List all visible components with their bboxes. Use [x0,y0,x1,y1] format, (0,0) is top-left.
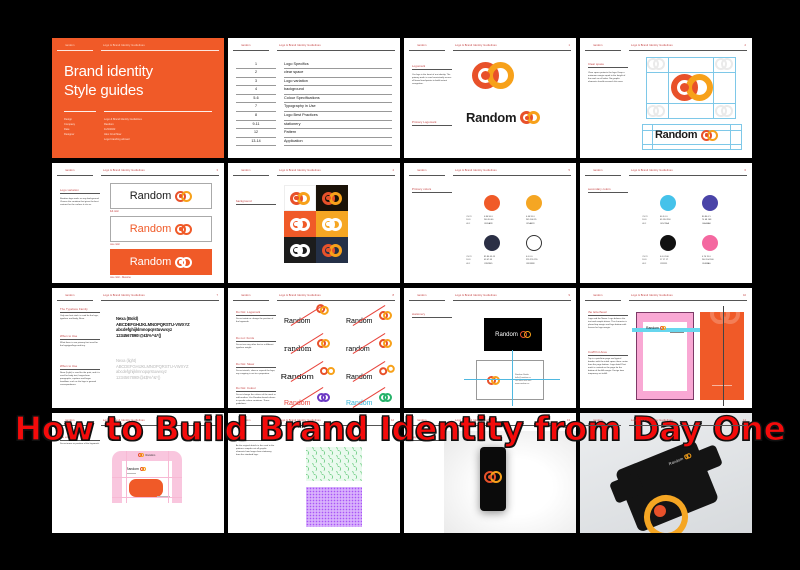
page-number: 5 [569,169,570,172]
slide-cover[interactable]: random Logo & Brand Identity Guidelines … [52,38,224,158]
section-label: background [236,199,252,203]
header-title: Logo & Brand Identity Guidelines [279,169,321,172]
logo-mark [472,62,514,89]
variant-one-color: Random [110,216,212,242]
variant-label: one color - Reverse [110,276,131,279]
phone-mockup [480,447,506,511]
slide-logo-variation[interactable]: random Logo & Brand Identity Guidelines … [52,163,224,283]
color-swatch [484,235,500,251]
ghost-mark [647,105,665,117]
page-number: 7 [217,294,218,297]
section-body: Our logo is the heart of our identity. T… [412,74,452,86]
slide-envelope[interactable]: random Logo & Brand Identity Guidelines … [52,413,224,533]
header-brand: random [65,294,75,297]
variant-reverse: Random [110,249,212,275]
rule-body: Do not change the colours of the mark or… [236,394,276,406]
header-title: Logo & Brand Identity Guidelines [103,419,145,422]
section-body-2: What there is one primary font used for … [60,342,100,348]
swatch-values: 60 5 0 069 194 234#45C2EA [660,216,670,226]
bg-cell [316,237,348,263]
header-brand: random [241,44,251,47]
dont-example: Random [284,392,334,408]
wordmark-mark [175,257,192,268]
section-label-2: Primary Logomark [412,120,436,124]
section-label: the envelope [60,435,77,439]
slide-pattern[interactable]: random Logo & Brand Identity Guidelines … [228,413,400,533]
logo-wordmark: Random [466,110,540,125]
slide-background[interactable]: random Logo & Brand Identity Guidelines … [228,163,400,283]
page-number: 6 [745,169,746,172]
slide-grid: random Logo & Brand Identity Guidelines … [52,38,752,533]
dont-example: random [346,338,396,356]
section-label: Logo variation [60,188,79,192]
color-swatch [526,235,542,251]
toc-row[interactable]: 13-14Application [236,137,392,146]
screenshot-canvas: random Logo & Brand Identity Guidelines … [0,0,800,570]
section-body: Do not move or position of the logomark. [60,443,100,446]
wordmark-mark [175,191,192,202]
section-label: stationery [412,312,425,316]
envelope-mockup: Random Random [112,451,182,503]
clear-space-diagram [646,57,736,119]
swatch-label-keys: CMYKRGBHEX [466,256,472,266]
dont-example: random [284,338,334,356]
section-label-3: When to Use [60,364,77,368]
section-label: pattern [236,435,245,439]
wordmark-mark [701,130,718,141]
wordmark-mark [520,111,540,124]
section-label: Clear space [588,62,604,66]
ghost-mark [715,58,733,70]
section-label: Primary colors [412,187,431,191]
rule-label: Do Not: Colour [236,386,256,390]
rule-body: Do not use any other font or a different… [236,344,276,350]
page-number: 10 [743,294,746,297]
color-swatch [660,235,676,251]
letterhead-page-alt [700,312,744,400]
swatch-label-keys: CMYKRGBHEX [642,256,648,266]
color-swatch [660,195,676,211]
header-title: Logo & Brand Identity Guidelines [631,169,673,172]
color-swatch [702,235,718,251]
page-number: 9 [569,294,570,297]
slide-logo-best-practices[interactable]: random Logo & Brand Identity Guidelines … [228,288,400,408]
swatch-label-keys: CMYKRGBHEX [642,216,648,226]
slide-typography[interactable]: random Logo & Brand Identity Guidelines … [52,288,224,408]
envelope-logo: Random [126,467,146,471]
section-body: Logo and the Name. Logo balance the text… [588,318,628,330]
variant-label: one color [110,243,120,246]
swatch-values: 0 80 90 0240 90 40#F05A28 [484,216,493,226]
swatch-values: 0 0 0 0255 255 255#FFFFFF [526,256,538,266]
envelope-logo-top: Random [138,453,155,457]
cover-meta-values: Logo & Brand Identity GuidelinesRandom 1… [104,118,142,143]
dont-example: Random [284,310,334,328]
header-title: Logo & Brand Identity Guidelines [455,169,497,172]
header-brand: random [417,294,427,297]
header-brand: random [593,44,603,47]
business-card-front: Random [484,318,542,351]
ghost-mark [715,105,733,117]
header-brand: random [241,294,251,297]
rule-label: Do not: Fonts [236,336,254,340]
page-number: 8 [393,294,394,297]
swatch-values: 85 80 45 4543 47 69#2B2F45 [484,256,495,266]
swatch-values: 0 0 0 10017 17 17#111111 [660,256,669,266]
slide-header: random Logo & Brand Identity Guidelines [57,43,219,52]
header-title: Logo & Brand Identity Guidelines [103,169,145,172]
section-label: the letterhead [588,310,607,314]
section-body: Random logo works on any background. Cho… [60,198,100,207]
section-label: The Typeface Family [60,307,88,311]
section-body-3: Nexa (Light) is used for the print, and … [60,372,100,387]
swatch-values: 0 40 95 0245 166 35#F5A623 [526,216,536,226]
header-brand: random [593,169,603,172]
section-label: application [412,435,426,439]
dont-example: Random [346,366,396,384]
specimen-bold: Nexa (Bold) ABCDEFGHIJKLMNOPQRSTU-VWXYZ … [116,316,218,338]
page-number: 4 [393,169,394,172]
tshirt-mockup: Random [606,443,726,527]
slide-stationery[interactable]: random Logo & Brand Identity Guidelines … [404,288,576,408]
header-brand: random [65,419,75,422]
envelope-logo-text: Random [146,454,156,457]
rule-label: Do Not: Skew [236,362,254,366]
background-swatch-grid [284,185,348,263]
section-label: secondary colors [588,187,611,191]
toc-list: 1Logo Specifics 2clear space 3Logo varia… [236,60,392,146]
wordmark-text: Random [655,129,697,141]
letterhead-logo: Random [646,326,666,330]
dont-example: Random [346,310,396,328]
page-number: 12 [391,419,394,422]
ghost-mark [647,58,665,70]
header-brand: random [417,44,427,47]
specimen-light: Nexa (light) ABCDEFGHIJKLMNOPQRSTU-VWXYZ… [116,358,218,380]
pattern-wave [306,447,362,481]
section-label-2: Cut/Print Area [588,350,607,354]
clear-space-wordmark-diagram: Random [642,124,742,150]
page-number: 11 [215,419,218,422]
dont-example: Random [284,366,334,384]
header-brand: random [241,169,251,172]
page-number: 13 [567,419,570,422]
wordmark-mark [175,224,192,235]
shirt-graphic-dot [654,505,666,517]
section-label-2: When to Use [60,334,77,338]
slide-logo-specifics[interactable]: random Logo & Brand Identity Guidelines … [404,38,576,158]
slide-application-phone[interactable]: random Logo & Brand Identity Guidelines … [404,413,576,533]
logo-mark [671,74,713,101]
slide-clear-space[interactable]: random Logo & Brand Identity Guidelines … [580,38,752,158]
header-brand: random [593,294,603,297]
section-label: Logomark [412,64,425,68]
swatch-label-keys: CMYKRGBHEX [466,216,472,226]
header-title: Logo & Brand Identity Guidelines [103,294,145,297]
header-brand: random [241,419,251,422]
cover-title: Brand identityStyle guides [64,62,153,100]
slide-secondary-colors[interactable]: random Logo & Brand Identity Guidelines … [580,163,752,283]
cover-meta-keys: DesignCompany DateDesigner [64,118,75,138]
header-title: Logo & Brand Identity Guidelines [279,294,321,297]
slide-primary-colors[interactable]: random Logo & Brand Identity Guidelines … [404,163,576,283]
swatch-values: 80 80 0 574 68 168#4A44A8 [702,216,711,226]
rule-label: Do Not: Logomark [236,310,260,314]
header-title: Logo & Brand Identity Guidelines [279,419,321,422]
variant-full-color: Random [110,183,212,209]
bg-cell [316,185,348,211]
page-number: 3 [217,169,218,172]
header-brand: random [593,419,603,422]
section-body: Clear space protects the logo. Keep a mi… [588,72,628,84]
header-title: Logo & Brand Identity Guidelines [455,419,497,422]
header-title: Logo & Brand Identity Guidelines [279,44,321,47]
slide-application-shirt[interactable]: random Logo & Brand Identity Guidelines … [580,413,752,533]
section-body-2: Top is a print/trim page and typical bor… [588,358,628,377]
color-swatch [484,195,500,211]
slide-letterhead[interactable]: random Logo & Brand Identity Guidelines … [580,288,752,408]
header-brand: random [417,419,427,422]
logo-wordmark: Random [655,129,718,141]
variant-label: full color [110,210,119,213]
page-number: 14 [743,419,746,422]
bg-cell [284,185,316,211]
header-title: Logo & Brand Identity Guidelines [631,294,673,297]
header-title: Logo & Brand Identity Guidelines [103,44,145,47]
header-title: Logo & Brand Identity Guidelines [455,294,497,297]
wordmark-text: Random [466,110,516,125]
header-brand: random [417,169,427,172]
dont-example: Random [346,392,396,408]
pattern-dots [306,487,362,527]
bg-cell [284,237,316,263]
bg-cell [316,211,348,237]
color-swatch [526,195,542,211]
header-title: Logo & Brand Identity Guidelines [455,44,497,47]
header-title: Logo & Brand Identity Guidelines [631,44,673,47]
section-body: Only one font stack is used for the logo… [60,315,100,321]
section-body: As the original details to the used in t… [236,445,276,457]
color-swatch [702,195,718,211]
rule-body: Do not stretch, skew or squash the logo,… [236,370,276,376]
page-number: 1 [569,44,570,47]
letterhead-page: Random [636,312,694,400]
slide-table-of-contents[interactable]: random Logo & Brand Identity Guidelines … [228,38,400,158]
page-number: 2 [745,44,746,47]
rule-body: Do not rotate or change the position of … [236,318,276,324]
header-title: Logo & Brand Identity Guidelines [631,419,673,422]
header-brand: random [65,44,75,47]
bg-cell [284,211,316,237]
swatch-values: 0 70 15 0244 104 160#F468A0 [702,256,714,266]
header-brand: random [65,169,75,172]
